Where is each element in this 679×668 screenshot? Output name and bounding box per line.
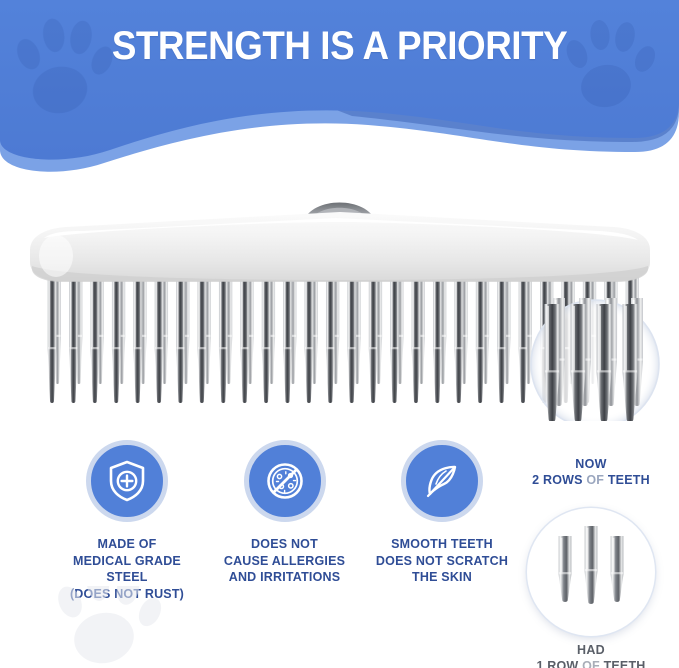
caption-line: DOES NOT <box>224 536 345 553</box>
feature-item-smooth-teeth[interactable]: SMOOTH TEETH DOES NOT SCRATCH THE SKIN <box>367 440 517 586</box>
caption-line: CAUSE ALLERGIES <box>224 553 345 570</box>
caption-line: AND IRRITATIONS <box>224 569 345 586</box>
page-title: STRENGTH IS A PRIORITY <box>27 24 652 69</box>
caption-line: THE SKIN <box>376 569 508 586</box>
callout-had-subtitle: 1 ROW OF TEETH <box>516 659 666 668</box>
callout-had-title: HAD <box>516 643 666 657</box>
callout-had: HAD 1 ROW OF TEETH <box>516 508 666 668</box>
caption-line: MADE OF <box>52 536 202 553</box>
feature-item-medical-steel[interactable]: MADE OF MEDICAL GRADE STEEL (DOES NOT RU… <box>52 440 202 603</box>
callout-now: NOW 2 ROWS OF TEETH <box>516 322 666 487</box>
no-germs-icon <box>262 458 308 504</box>
callout-had-dim: OF <box>582 659 600 668</box>
medical-shield-icon <box>104 458 150 504</box>
single-row-teeth-illustration <box>527 508 655 636</box>
feature-icon-circle <box>86 440 168 522</box>
callout-now-title: NOW <box>516 457 666 471</box>
callout-now-subtitle: 2 ROWS OF TEETH <box>516 473 666 487</box>
callout-now-dim: OF <box>586 473 604 487</box>
callout-now-bubble <box>527 322 655 450</box>
feature-caption: DOES NOT CAUSE ALLERGIES AND IRRITATIONS <box>224 536 345 586</box>
caption-line: MEDICAL GRADE STEEL <box>52 553 202 586</box>
callout-had-strong-1: 1 ROW <box>536 659 578 668</box>
product-infographic: STRENGTH IS A PRIORITY <box>0 0 679 668</box>
callout-had-strong-2: TEETH <box>604 659 646 668</box>
callout-now-strong-2: TEETH <box>608 473 650 487</box>
header-banner: STRENGTH IS A PRIORITY <box>0 0 679 175</box>
caption-line: SMOOTH TEETH <box>376 536 508 553</box>
callout-now-strong-1: 2 ROWS <box>532 473 583 487</box>
paw-print-icon-watermark <box>58 586 228 668</box>
caption-line: DOES NOT SCRATCH <box>376 553 508 570</box>
callout-had-bubble <box>527 508 655 636</box>
comb-handle <box>30 212 650 282</box>
feature-item-no-allergies[interactable]: DOES NOT CAUSE ALLERGIES AND IRRITATIONS <box>210 440 360 586</box>
feature-icon-circle <box>244 440 326 522</box>
feather-icon <box>419 458 465 504</box>
feature-caption: SMOOTH TEETH DOES NOT SCRATCH THE SKIN <box>376 536 508 586</box>
feature-icon-circle <box>401 440 483 522</box>
